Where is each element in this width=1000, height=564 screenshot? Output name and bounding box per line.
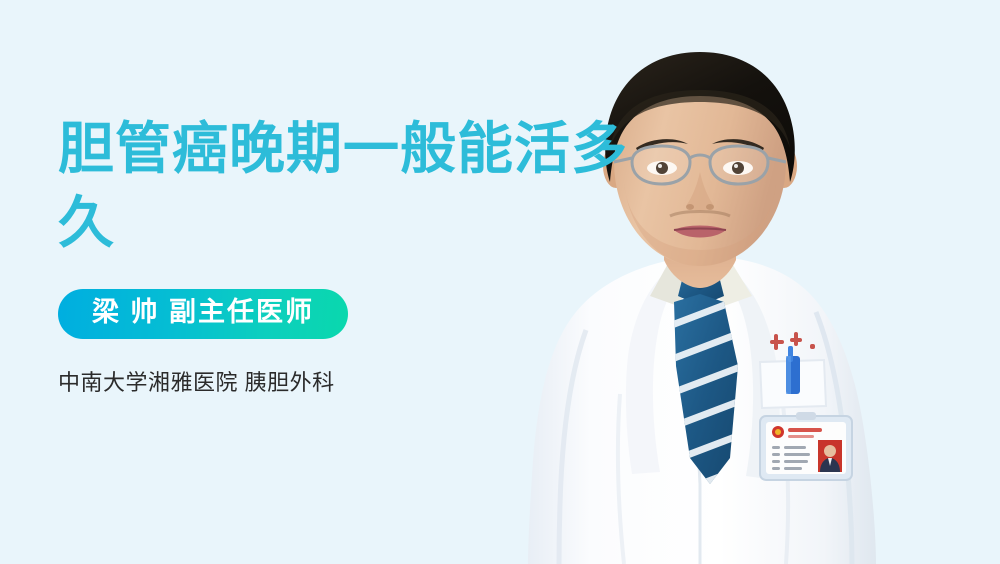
poster-canvas: 胆管癌晚期一般能活多久 梁 帅 副主任医师 中南大学湘雅医院 胰胆外科 [0, 0, 1000, 564]
page-title: 胆管癌晚期一般能活多久 [58, 112, 628, 261]
doctor-affiliation: 中南大学湘雅医院 胰胆外科 [58, 365, 658, 397]
hospital-id-badge [760, 412, 852, 480]
text-block: 胆管癌晚期一般能活多久 梁 帅 副主任医师 中南大学湘雅医院 胰胆外科 [58, 112, 658, 397]
doctor-credential-badge: 梁 帅 副主任医师 [58, 289, 348, 339]
